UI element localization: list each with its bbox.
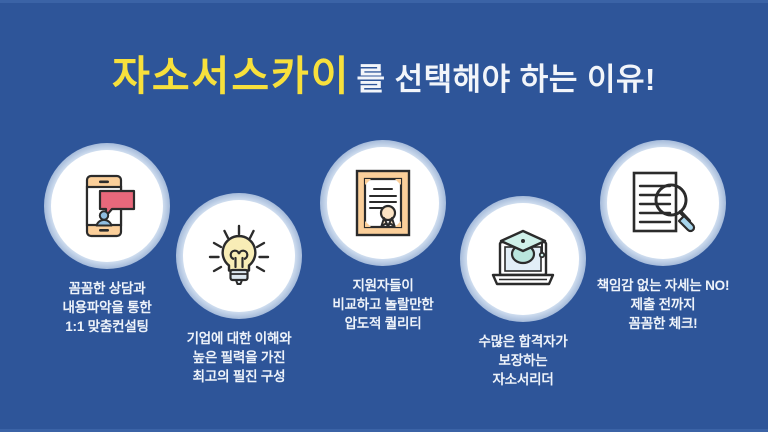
feature-item-leader: 수많은 합격자가 보장하는 자소서리더 (448, 196, 598, 389)
caption-line: 기업에 대한 이해와 (164, 329, 314, 348)
promo-slide: 자소서스카이를 선택해야 하는 이유! (0, 0, 768, 432)
circle-background (183, 200, 295, 312)
title-brand-name: 자소서스카이 (112, 53, 350, 99)
feature-item-consulting: 꼼꼼한 상담과 내용파악을 통한 1:1 맞춤컨설팅 (32, 143, 182, 336)
caption-line: 높은 필력을 가진 (164, 348, 314, 367)
circle-background (607, 147, 719, 259)
caption-line: 압도적 퀄리티 (308, 314, 458, 333)
circle-background (467, 203, 579, 315)
caption-line: 제출 전까지 (588, 295, 738, 314)
feature-icon-circle (176, 193, 302, 319)
feature-icon-circle (44, 143, 170, 269)
feature-item-check: 책임감 없는 자세는 NO! 제출 전까지 꼼꼼한 체크! (588, 140, 738, 333)
title-rest-text: 를 선택해야 하는 이유! (356, 62, 655, 97)
caption-line: 최고의 필진 구성 (164, 367, 314, 386)
document-magnifier-icon (629, 170, 697, 236)
feature-caption: 수많은 합격자가 보장하는 자소서리더 (448, 332, 598, 389)
laptop-graduation-cap-icon (487, 227, 559, 291)
feature-item-writers: 기업에 대한 이해와 높은 필력을 가진 최고의 필진 구성 (164, 193, 314, 386)
caption-line: 수많은 합격자가 (448, 332, 598, 351)
circle-background (51, 150, 163, 262)
caption-line: 비교하고 놀랄만한 (308, 295, 458, 314)
caption-line: 자소서리더 (448, 370, 598, 389)
caption-line: 내용파악을 통한 (32, 298, 182, 317)
certificate-award-icon (354, 168, 412, 238)
page-title: 자소서스카이를 선택해야 하는 이유! (0, 42, 768, 102)
caption-line: 보장하는 (448, 351, 598, 370)
lightbulb-idea-icon (206, 223, 272, 289)
feature-caption: 책임감 없는 자세는 NO! 제출 전까지 꼼꼼한 체크! (588, 276, 738, 333)
feature-caption: 지원자들이 비교하고 놀랄만한 압도적 퀄리티 (308, 276, 458, 333)
feature-icon-circle (460, 196, 586, 322)
feature-icon-circle (600, 140, 726, 266)
feature-icon-circle (320, 140, 446, 266)
feature-caption: 기업에 대한 이해와 높은 필력을 가진 최고의 필진 구성 (164, 329, 314, 386)
caption-line: 꼼꼼한 체크! (588, 314, 738, 333)
top-edge-strip (0, 0, 768, 3)
feature-item-quality: 지원자들이 비교하고 놀랄만한 압도적 퀄리티 (308, 140, 458, 333)
caption-line: 꼼꼼한 상담과 (32, 279, 182, 298)
feature-caption: 꼼꼼한 상담과 내용파악을 통한 1:1 맞춤컨설팅 (32, 279, 182, 336)
circle-background (327, 147, 439, 259)
caption-line: 1:1 맞춤컨설팅 (32, 317, 182, 336)
smartphone-chat-icon (76, 173, 138, 239)
caption-line: 책임감 없는 자세는 NO! (588, 276, 738, 295)
caption-line: 지원자들이 (308, 276, 458, 295)
